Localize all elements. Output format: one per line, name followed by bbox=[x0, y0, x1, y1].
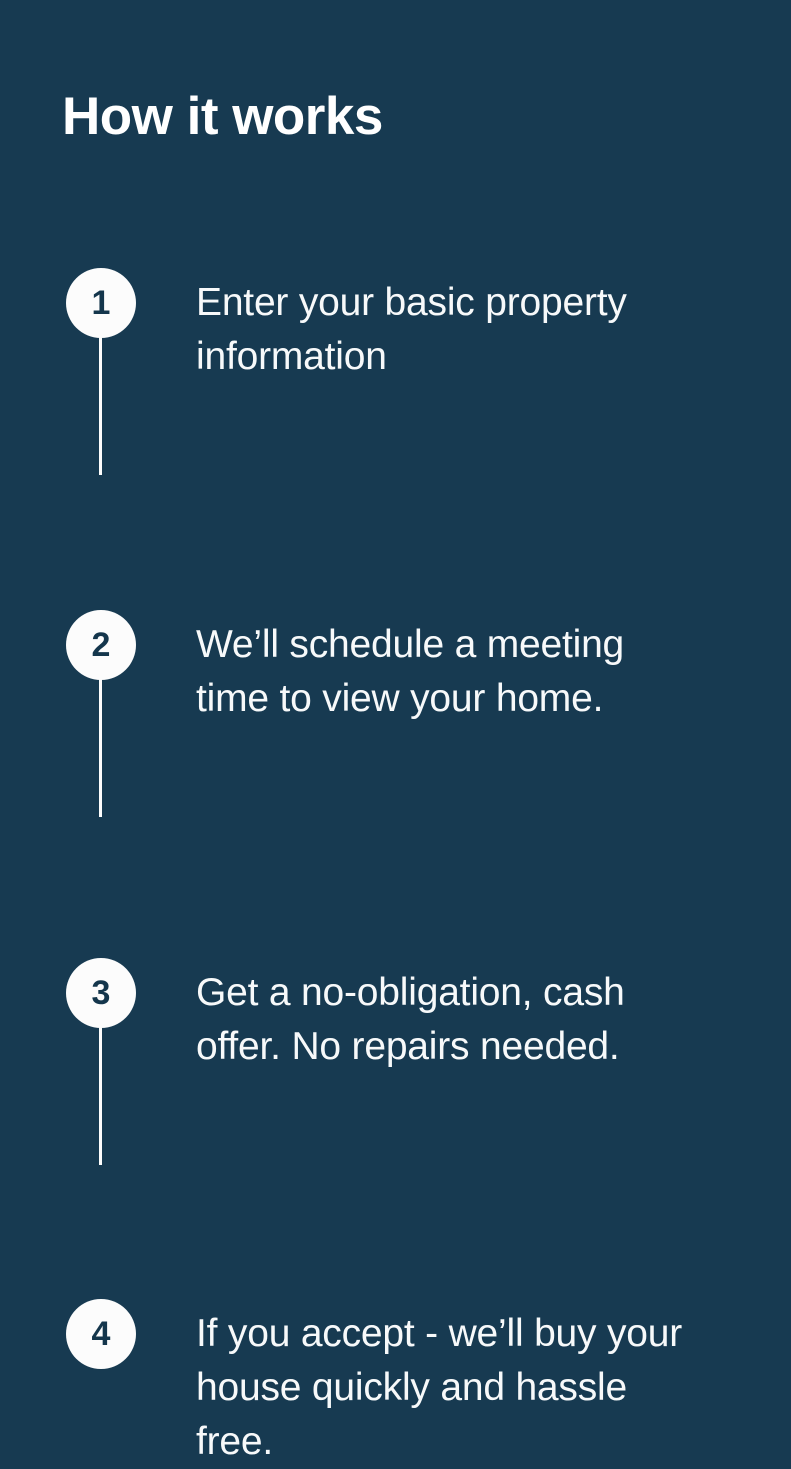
step-number-label: 3 bbox=[92, 976, 111, 1010]
step-description: If you accept - we’ll buy your house qui… bbox=[196, 1307, 706, 1469]
step-number-label: 2 bbox=[92, 628, 111, 662]
how-it-works-poster: How it works 1 Enter your basic property… bbox=[0, 0, 791, 1079]
page-title: How it works bbox=[62, 88, 383, 146]
step-item: 1 Enter your basic property information bbox=[0, 268, 791, 440]
step-item: 3 Get a no-obligation, cash offer. No re… bbox=[0, 958, 791, 1130]
step-number-label: 1 bbox=[92, 286, 111, 320]
step-item: 2 We’ll schedule a meeting time to view … bbox=[0, 610, 791, 782]
step-number-circle: 3 bbox=[66, 958, 136, 1028]
step-number-circle: 1 bbox=[66, 268, 136, 338]
step-number-label: 4 bbox=[92, 1317, 111, 1351]
step-number-circle: 2 bbox=[66, 610, 136, 680]
steps-timeline: 1 Enter your basic property information … bbox=[0, 268, 791, 784]
step-description: We’ll schedule a meeting time to view yo… bbox=[196, 618, 706, 726]
step-description: Get a no-obligation, cash offer. No repa… bbox=[196, 966, 706, 1074]
step-number-circle: 4 bbox=[66, 1299, 136, 1369]
step-description: Enter your basic property information bbox=[196, 276, 706, 384]
